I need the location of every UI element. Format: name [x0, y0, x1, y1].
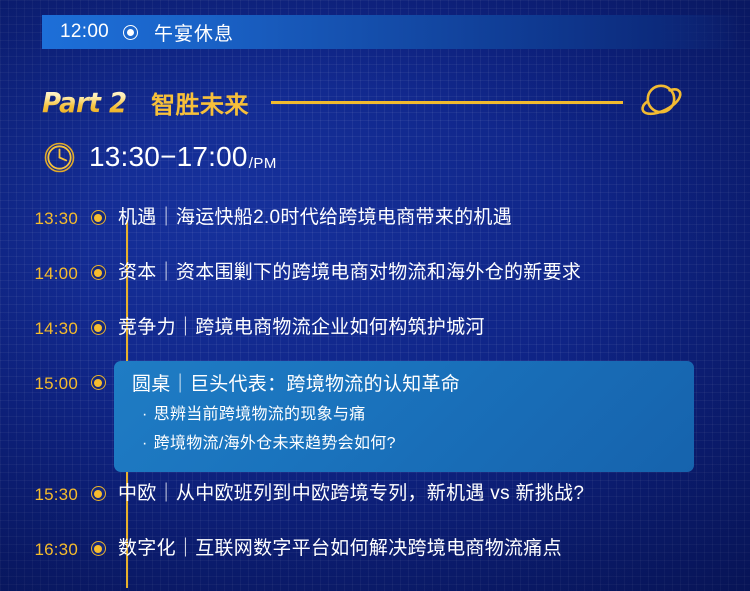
clock-icon	[44, 142, 75, 173]
timeline-node-icon	[78, 361, 118, 390]
part-header: Part 2 智胜未来	[42, 80, 732, 124]
timeline-node-icon	[78, 306, 118, 335]
header-divider	[271, 101, 623, 104]
timeline-row-title: 中欧｜从中欧班列到中欧跨境专列，新机遇 vs 新挑战?	[118, 472, 750, 507]
timeline-node-icon	[78, 196, 118, 225]
roundtable-card-bullet-text: 思辨当前跨境物流的现象与痛	[154, 406, 366, 423]
timeline-row-body: 数字化｜互联网数字平台如何解决跨境电商物流痛点	[118, 527, 750, 562]
timeline-node-icon	[78, 527, 118, 556]
timeline-row-time: 13:30	[0, 196, 78, 231]
roundtable-card-bullet: ·思辨当前跨境物流的现象与痛	[132, 400, 676, 429]
roundtable-card-bullet-text: 跨境物流/海外仓未来趋势会如何?	[154, 435, 396, 452]
timeline-row-body: 资本｜资本围剿下的跨境电商对物流和海外仓的新要求	[118, 251, 750, 286]
lunch-break-label: 午宴休息	[154, 19, 234, 46]
roundtable-card-bullet: ·跨境物流/海外仓未来趋势会如何?	[132, 429, 676, 458]
part-title: 智胜未来	[151, 85, 249, 120]
timeline-row-time: 15:30	[0, 472, 78, 507]
timeline-row[interactable]: 14:00资本｜资本围剿下的跨境电商对物流和海外仓的新要求	[0, 251, 750, 306]
timeline-rows: 13:30机遇｜海运快船2.0时代给跨境电商带来的机遇14:00资本｜资本围剿下…	[0, 196, 750, 582]
timeline-row-body: 竞争力｜跨境电商物流企业如何构筑护城河	[118, 306, 750, 341]
timeline-row-body: 中欧｜从中欧班列到中欧跨境专列，新机遇 vs 新挑战?	[118, 472, 750, 507]
time-range-text: 13:30−17:00	[89, 141, 248, 173]
timeline-node-icon	[78, 472, 118, 501]
agenda-page: 12:00 午宴休息 Part 2 智胜未来 13:30−17:00 /PM	[0, 0, 750, 591]
agenda-timeline: 13:30机遇｜海运快船2.0时代给跨境电商带来的机遇14:00资本｜资本围剿下…	[0, 196, 750, 582]
timeline-row[interactable]: 15:30中欧｜从中欧班列到中欧跨境专列，新机遇 vs 新挑战?	[0, 472, 750, 527]
timeline-node-icon	[78, 251, 118, 280]
timeline-row-title: 数字化｜互联网数字平台如何解决跨境电商物流痛点	[118, 527, 750, 562]
timeline-row[interactable]: 13:30机遇｜海运快船2.0时代给跨境电商带来的机遇	[0, 196, 750, 251]
roundtable-card[interactable]: 圆桌｜巨头代表：跨境物流的认知革命·思辨当前跨境物流的现象与痛·跨境物流/海外仓…	[114, 361, 694, 472]
bullet-marker-icon: ·	[142, 406, 148, 423]
timeline-row[interactable]: 15:00圆桌｜巨头代表：跨境物流的认知革命·思辨当前跨境物流的现象与痛·跨境物…	[0, 361, 750, 472]
lunch-break-time: 12:00	[60, 21, 109, 43]
timeline-row-title: 竞争力｜跨境电商物流企业如何构筑护城河	[118, 306, 750, 341]
timeline-row-time: 15:00	[0, 361, 78, 396]
timeline-row-title: 机遇｜海运快船2.0时代给跨境电商带来的机遇	[118, 196, 750, 231]
bullet-marker-icon: ·	[142, 435, 148, 452]
timeline-row-body: 圆桌｜巨头代表：跨境物流的认知革命·思辨当前跨境物流的现象与痛·跨境物流/海外仓…	[114, 361, 694, 472]
timeline-row-body: 机遇｜海运快船2.0时代给跨境电商带来的机遇	[118, 196, 750, 231]
target-dot-icon	[123, 25, 138, 40]
timeline-row-time: 16:30	[0, 527, 78, 562]
timeline-row[interactable]: 16:30数字化｜互联网数字平台如何解决跨境电商物流痛点	[0, 527, 750, 582]
timeline-row-title: 资本｜资本围剿下的跨境电商对物流和海外仓的新要求	[118, 251, 750, 286]
planet-saturn-icon	[639, 79, 685, 125]
roundtable-card-title: 圆桌｜巨头代表：跨境物流的认知革命	[132, 370, 676, 400]
part-number-label: Part 2	[42, 86, 127, 119]
time-range-suffix: /PM	[249, 155, 277, 176]
timeline-row-time: 14:00	[0, 251, 78, 286]
timeline-row[interactable]: 14:30竞争力｜跨境电商物流企业如何构筑护城河	[0, 306, 750, 361]
timeline-row-time: 14:30	[0, 306, 78, 341]
lunch-break-banner: 12:00 午宴休息	[42, 15, 742, 49]
session-time-range: 13:30−17:00 /PM	[44, 138, 277, 176]
